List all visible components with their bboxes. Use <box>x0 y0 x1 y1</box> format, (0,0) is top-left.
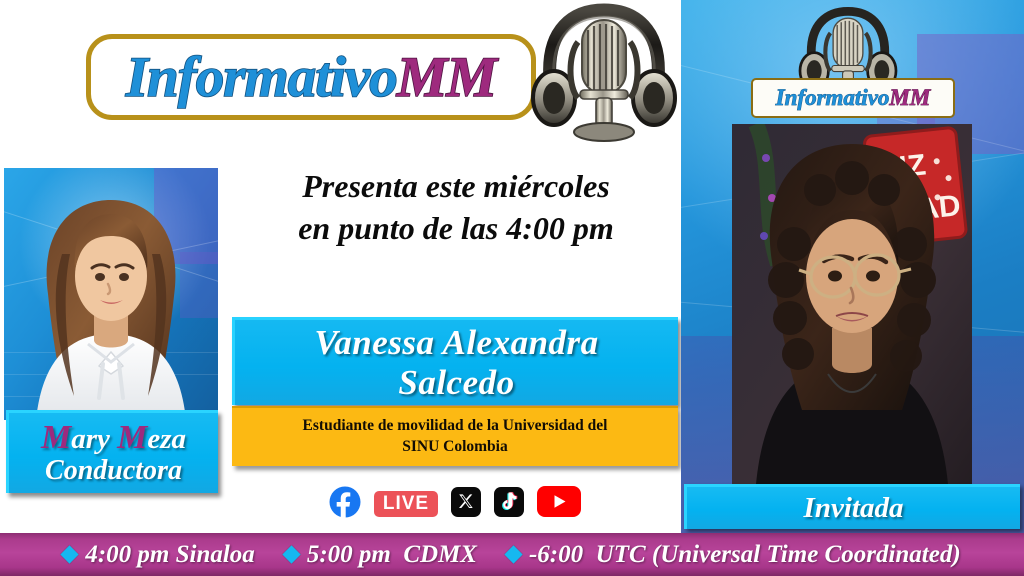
host-last-rest: eza <box>147 423 186 455</box>
host-last-initial: M <box>117 419 147 456</box>
logo-word-mm: MM <box>397 45 496 110</box>
headline-line-2: en punto de las 4:00 pm <box>236 208 676 250</box>
headline: Presenta este miércoles en punto de las … <box>236 166 676 249</box>
host-name: Mary Meza <box>41 420 186 456</box>
promo-poster: InformativoMM <box>0 0 1024 576</box>
diamond-bullet-icon <box>504 545 522 563</box>
guest-name-line-1: Vanessa Alexandra <box>314 323 598 362</box>
youtube-icon[interactable] <box>537 486 581 522</box>
guest-subtitle-line-2: SINU Colombia <box>303 437 608 458</box>
guest-caption: Invitada <box>804 492 904 525</box>
guest-name-line-2: Salcedo <box>314 363 598 402</box>
guest-subtitle: Estudiante de movilidad de la Universida… <box>303 416 608 458</box>
guest-name: Vanessa Alexandra Salcedo <box>314 323 598 401</box>
timezone-item: -6:00 UTC (Universal Time Coordinated) <box>507 541 961 569</box>
timezone-list: 4:00 pm Sinaloa 5:00 pm CDMX -6:00 UTC (… <box>63 541 960 569</box>
host-first-rest: ary <box>71 423 110 455</box>
logo-wordmark: InformativoMM <box>86 34 536 120</box>
timezone-zone: UTC (Universal Time Coordinated) <box>596 541 961 569</box>
tiktok-icon[interactable] <box>494 487 524 522</box>
host-portrait <box>4 168 218 420</box>
host-role: Conductora <box>45 456 182 485</box>
timezone-time: -6:00 <box>529 541 583 569</box>
microphone-headphones-icon <box>524 2 684 144</box>
guest-photo: IZ DAD <box>732 124 972 484</box>
timezone-time: 4:00 pm <box>85 541 169 569</box>
x-twitter-icon[interactable] <box>451 487 481 522</box>
diamond-bullet-icon <box>282 545 300 563</box>
timezone-zone: Sinaloa <box>176 541 255 569</box>
facebook-icon[interactable] <box>329 486 361 523</box>
guest-caption-banner: Invitada <box>684 484 1020 529</box>
timezone-item: 5:00 pm CDMX <box>285 541 477 569</box>
headline-line-1: Presenta este miércoles <box>236 166 676 208</box>
host-name-banner: Mary Meza Conductora <box>6 410 218 493</box>
timezone-time: 5:00 pm <box>307 541 391 569</box>
live-badge[interactable]: LIVE <box>374 491 438 517</box>
guest-panel: InformativoMM <box>681 0 1024 536</box>
timezone-bar: 4:00 pm Sinaloa 5:00 pm CDMX -6:00 UTC (… <box>0 533 1024 576</box>
logo-word-mm: MM <box>889 85 930 111</box>
logo-word-informativo: Informativo <box>776 85 890 111</box>
social-links-row: LIVE <box>232 484 678 524</box>
timezone-zone: CDMX <box>403 541 477 569</box>
brand-logo: InformativoMM <box>86 34 536 120</box>
guest-subtitle-line-1: Estudiante de movilidad de la Universida… <box>303 416 608 437</box>
guest-subtitle-bar: Estudiante de movilidad de la Universida… <box>232 406 678 466</box>
guest-name-banner: Vanessa Alexandra Salcedo <box>232 317 678 405</box>
timezone-item: 4:00 pm Sinaloa <box>63 541 254 569</box>
diamond-bullet-icon <box>61 545 79 563</box>
host-first-initial: M <box>41 419 71 456</box>
guest-panel-logo: InformativoMM <box>751 78 955 118</box>
logo-word-informativo: Informativo <box>126 45 397 110</box>
